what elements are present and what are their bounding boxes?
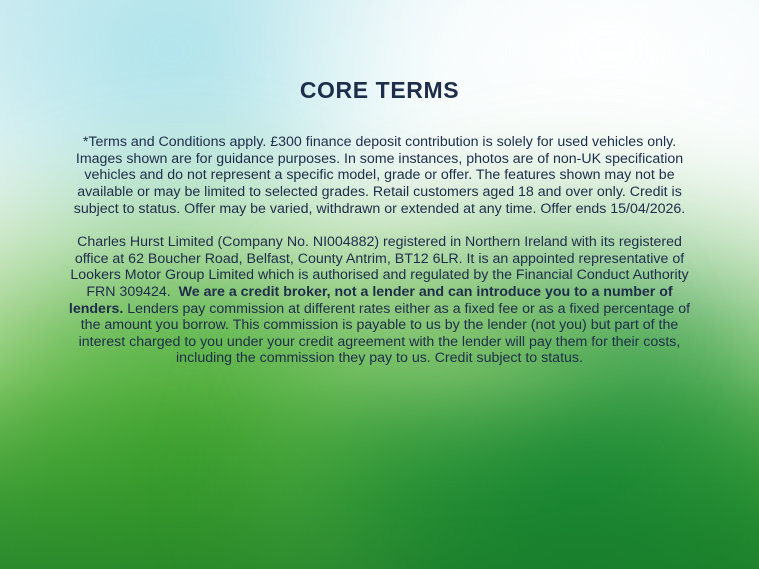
broker-paragraph: Charles Hurst Limited (Company No. NI004… — [67, 234, 692, 367]
page-title: CORE TERMS — [38, 0, 721, 103]
disclaimer-paragraph: *Terms and Conditions apply. £300 financ… — [67, 134, 692, 217]
terms-content: CORE TERMS *Terms and Conditions apply. … — [0, 0, 759, 569]
terms-panel: CORE TERMS *Terms and Conditions apply. … — [0, 0, 759, 569]
broker-tail-text: Lenders pay commission at different rate… — [79, 301, 690, 367]
